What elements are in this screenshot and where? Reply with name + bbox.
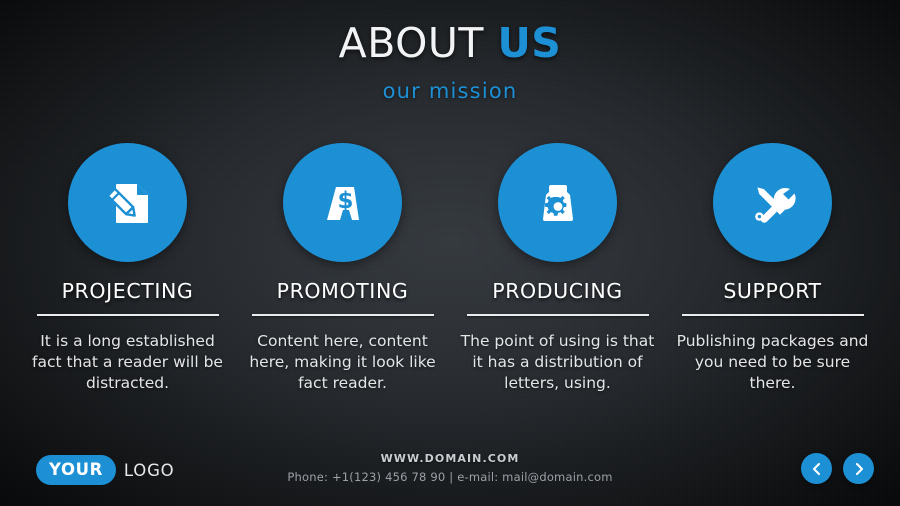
feature-title: PRODUCING: [492, 279, 623, 303]
next-slide-button[interactable]: [843, 453, 874, 484]
feature-columns: PROJECTING It is a long established fact…: [20, 143, 880, 394]
feature-divider: [252, 314, 434, 316]
feature-body: Publishing packages and you need to be s…: [673, 331, 873, 394]
feature-column-support[interactable]: SUPPORT Publishing packages and you need…: [665, 143, 880, 394]
toolbox-gear-icon: [530, 175, 586, 231]
page-title-plain: ABOUT: [339, 19, 484, 67]
prev-slide-button[interactable]: [801, 453, 832, 484]
feature-body: It is a long established fact that a rea…: [28, 331, 228, 394]
page-title-accent: US: [498, 19, 562, 67]
feature-column-promoting[interactable]: $ PROMOTING Content here, content here, …: [235, 143, 450, 394]
page-subtitle: our mission: [0, 79, 900, 103]
feature-divider: [682, 314, 864, 316]
icon-circle-promoting[interactable]: $: [283, 143, 402, 262]
page-title: ABOUT US: [0, 22, 900, 65]
about-us-slide: ABOUT US our mission: [0, 0, 900, 506]
feature-divider: [37, 314, 219, 316]
feature-title: SUPPORT: [723, 279, 821, 303]
contact-block: WWW.DOMAIN.COM Phone: +1(123) 456 78 90 …: [0, 452, 900, 484]
icon-circle-projecting[interactable]: [68, 143, 187, 262]
billboard-dollar-icon: $: [315, 175, 371, 231]
wrench-screwdriver-icon: [745, 175, 801, 231]
feature-body: The point of using is that it has a dist…: [458, 331, 658, 394]
feature-divider: [467, 314, 649, 316]
feature-column-projecting[interactable]: PROJECTING It is a long established fact…: [20, 143, 235, 394]
contact-details-text: Phone: +1(123) 456 78 90 | e-mail: mail@…: [0, 470, 900, 484]
slide-navigation: [801, 453, 874, 484]
feature-column-producing[interactable]: PRODUCING The point of using is that it …: [450, 143, 665, 394]
icon-circle-support[interactable]: [713, 143, 832, 262]
slide-header: ABOUT US our mission: [0, 22, 900, 103]
feature-title: PROMOTING: [277, 279, 409, 303]
website-text: WWW.DOMAIN.COM: [0, 452, 900, 465]
feature-title: PROJECTING: [62, 279, 194, 303]
slide-footer: YOUR LOGO WWW.DOMAIN.COM Phone: +1(123) …: [0, 444, 900, 506]
svg-text:$: $: [337, 188, 353, 214]
chevron-left-icon: [810, 462, 824, 476]
chevron-right-icon: [852, 462, 866, 476]
document-pencil-icon: [100, 175, 156, 231]
icon-circle-producing[interactable]: [498, 143, 617, 262]
feature-body: Content here, content here, making it lo…: [243, 331, 443, 394]
